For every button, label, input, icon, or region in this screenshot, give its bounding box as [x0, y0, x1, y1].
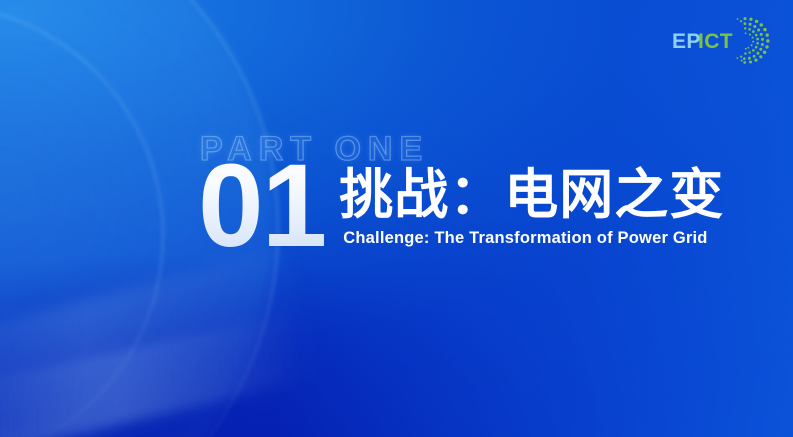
- title-row: 01 挑战：电网之变 Challenge: The Transformation…: [198, 150, 724, 262]
- logo-text-primary: EP: [672, 30, 701, 53]
- title-column: 挑战：电网之变 Challenge: The Transformation of…: [339, 150, 724, 248]
- logo-dot-ring-icon: [737, 17, 770, 64]
- slide-content: PART ONE 01 挑战：电网之变 Challenge: The Trans…: [198, 132, 758, 272]
- section-number: 01: [198, 150, 339, 262]
- epict-logo: EP ICT: [671, 14, 775, 70]
- presentation-slide: EP ICT PART ONE 01 挑战：电网之变 Challenge: Th…: [0, 0, 793, 437]
- slide-subtitle-en: Challenge: The Transformation of Power G…: [343, 229, 724, 248]
- slide-title-cn: 挑战：电网之变: [339, 166, 724, 224]
- logo-text-accent: ICT: [698, 30, 733, 53]
